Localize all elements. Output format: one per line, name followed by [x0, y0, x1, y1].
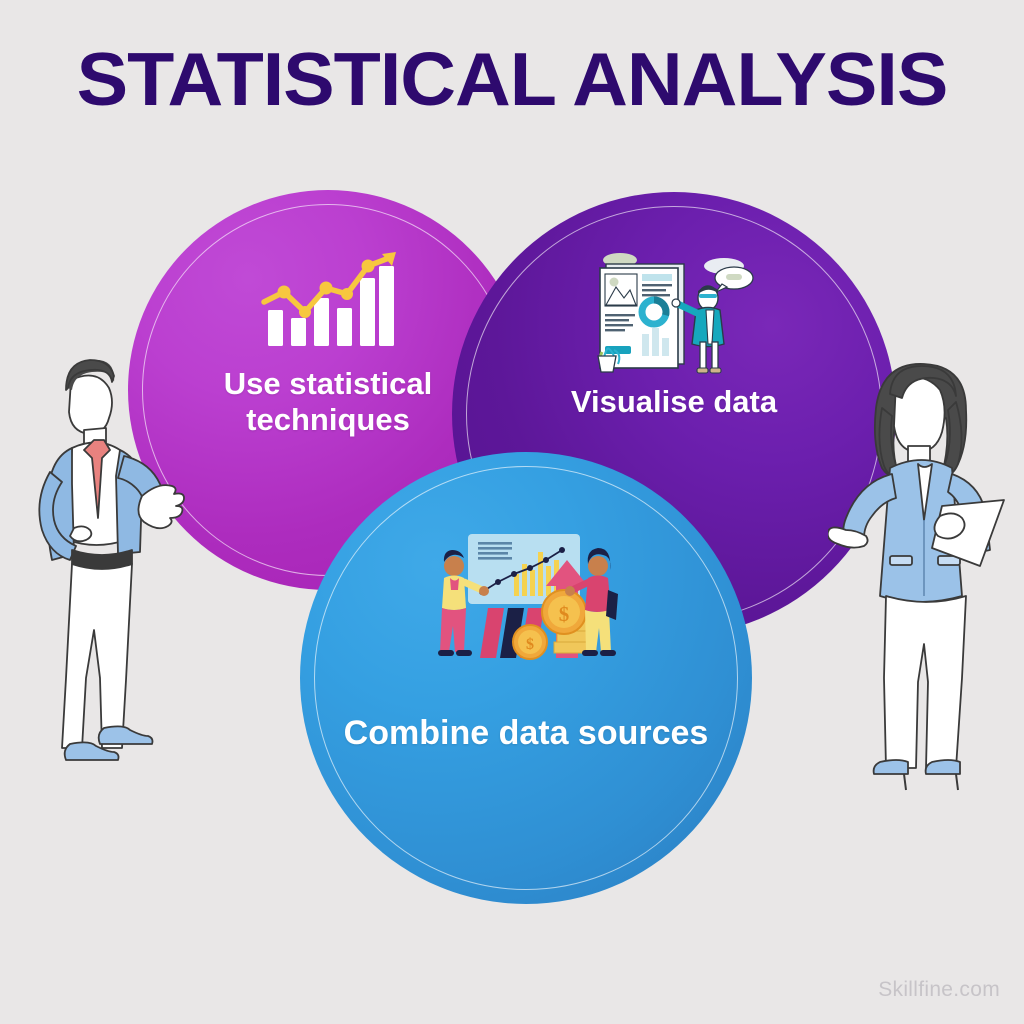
businesswoman-presenting-illustration [828, 350, 1018, 805]
bar-chart-growth-icon [258, 252, 398, 357]
data-analytics-team-finance-icon: $ $ [426, 530, 626, 665]
businessman-pointing-illustration [8, 352, 208, 807]
svg-text:$: $ [526, 636, 534, 653]
venn-circle-combine-data-sources[interactable]: $ $ [300, 452, 752, 904]
page-title: STATISTICAL ANALYSIS [0, 36, 1024, 122]
presentation-board-person-icon [584, 250, 764, 385]
circle-label-combine-data-sources: Combine data sources [300, 714, 752, 753]
svg-text:$: $ [559, 602, 570, 626]
watermark: Skillfine.com [878, 978, 1000, 1002]
infographic-canvas: STATISTICAL ANALYSIS [0, 0, 1024, 1024]
